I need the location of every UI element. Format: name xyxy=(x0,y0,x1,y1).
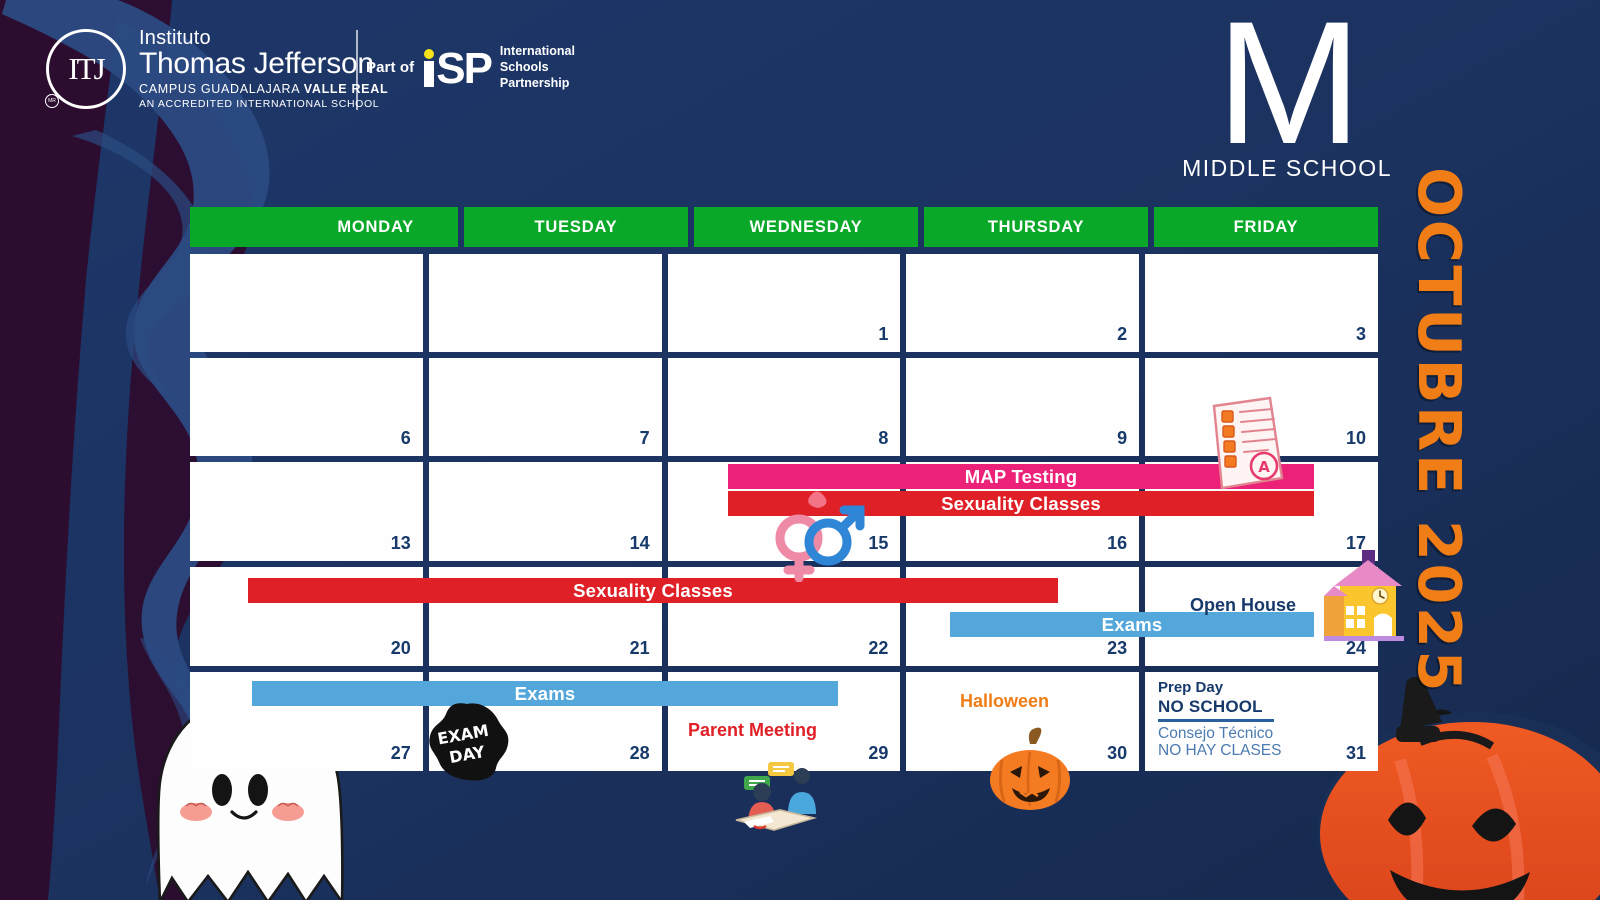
day-cell-9[interactable]: 9 xyxy=(906,358,1139,456)
day-cell-2[interactable]: 2 xyxy=(906,254,1139,352)
event-bar-exams[interactable]: Exams xyxy=(252,681,838,706)
event-bar-map-testing[interactable]: MAP Testing xyxy=(728,464,1314,489)
event-label-parent-meeting[interactable]: Parent Meeting xyxy=(688,720,817,741)
header-divider xyxy=(356,30,358,110)
isp-logo: Part of SP International Schools Partner… xyxy=(366,44,575,91)
isp-part-of-label: Part of xyxy=(366,59,414,76)
page-header: ITJ MR Instituto Thomas Jefferson CAMPUS… xyxy=(0,0,1600,200)
calendar-weeks: 1 2 3 6 7 8 9 10 xyxy=(190,254,1378,771)
isp-line-schools: Schools xyxy=(500,60,575,76)
day-number: 14 xyxy=(630,533,650,554)
weekday-header-wednesday: WEDNESDAY xyxy=(694,207,918,247)
calendar-week-3: 13 14 15 16 17 MAP Testing Sexuality Cla… xyxy=(190,462,1378,561)
isp-i-glyph xyxy=(424,49,434,87)
isp-i-stem xyxy=(424,61,434,87)
itj-line-instituto: Instituto xyxy=(139,28,388,48)
day-cell-13[interactable]: 13 xyxy=(190,462,423,561)
prep-day-rule xyxy=(1158,719,1274,722)
weekday-header-friday: FRIDAY xyxy=(1154,207,1378,247)
day-number: 17 xyxy=(1346,533,1366,554)
month-title-text: OCTUBRE 2025 xyxy=(1406,166,1475,693)
day-number: 9 xyxy=(1117,428,1127,449)
day-number: 22 xyxy=(868,638,888,659)
day-number: 23 xyxy=(1107,638,1127,659)
calendar-weekday-header-row: MONDAY TUESDAY WEDNESDAY THURSDAY FRIDAY xyxy=(190,207,1378,247)
day-cell-empty[interactable] xyxy=(429,254,662,352)
calendar-week-5: 27 28 29 30 31 Exams Parent Meeting Hall… xyxy=(190,672,1378,771)
event-label-halloween[interactable]: Halloween xyxy=(960,691,1049,712)
day-number: 10 xyxy=(1346,428,1366,449)
day-number: 7 xyxy=(640,428,650,449)
prep-day-line-1: Prep Day xyxy=(1158,680,1281,697)
itj-seal-initials: ITJ xyxy=(49,32,123,106)
day-number: 31 xyxy=(1346,743,1366,764)
itj-line-accreditation: AN ACCREDITED INTERNATIONAL SCHOOL xyxy=(139,99,388,110)
day-cell-6[interactable]: 6 xyxy=(190,358,423,456)
day-number: 6 xyxy=(401,428,411,449)
calendar-week-1: 1 2 3 xyxy=(190,254,1378,352)
day-number: 13 xyxy=(391,533,411,554)
middle-school-monogram: M xyxy=(1182,10,1392,159)
event-label-open-house[interactable]: Open House xyxy=(1190,595,1296,616)
itj-wordmark: Instituto Thomas Jefferson CAMPUS GUADAL… xyxy=(139,28,388,109)
itj-campus-prefix: CAMPUS GUADALAJARA xyxy=(139,82,304,96)
month-title: OCTUBRE 2025 xyxy=(1380,195,1500,665)
prep-day-line-2: NO SCHOOL xyxy=(1158,697,1281,716)
itj-seal-icon: ITJ MR xyxy=(46,29,126,109)
day-number: 2 xyxy=(1117,324,1127,345)
itj-line-campus: CAMPUS GUADALAJARA VALLE REAL xyxy=(139,83,388,96)
day-number: 3 xyxy=(1356,324,1366,345)
day-cell-3[interactable]: 3 xyxy=(1145,254,1378,352)
isp-yellow-dot-icon xyxy=(424,49,434,59)
day-cell-8[interactable]: 8 xyxy=(668,358,901,456)
day-number: 30 xyxy=(1107,743,1127,764)
day-number: 29 xyxy=(868,743,888,764)
day-cell-10[interactable]: 10 xyxy=(1145,358,1378,456)
day-number: 24 xyxy=(1346,638,1366,659)
weekday-header-tuesday: TUESDAY xyxy=(464,207,688,247)
itj-trademark-mark: MR xyxy=(45,94,59,108)
isp-sp-letters: SP xyxy=(436,52,491,86)
event-bar-sexuality-classes[interactable]: Sexuality Classes xyxy=(248,578,1058,603)
weekday-header-thursday: THURSDAY xyxy=(924,207,1148,247)
prep-day-line-4: NO HAY CLASES xyxy=(1158,742,1281,759)
day-number: 8 xyxy=(878,428,888,449)
day-number: 28 xyxy=(630,743,650,764)
day-cell-7[interactable]: 7 xyxy=(429,358,662,456)
calendar-week-4: 20 21 22 23 24 Sexuality Classes Exams O… xyxy=(190,567,1378,666)
day-cell-empty[interactable] xyxy=(190,254,423,352)
isp-line-international: International xyxy=(500,44,575,60)
day-cell-14[interactable]: 14 xyxy=(429,462,662,561)
isp-mark-icon: SP xyxy=(424,49,491,87)
itj-logo: ITJ MR Instituto Thomas Jefferson CAMPUS… xyxy=(46,28,388,109)
weekday-header-monday: MONDAY xyxy=(190,207,458,247)
calendar-week-2: 6 7 8 9 10 xyxy=(190,358,1378,456)
isp-wordmark: International Schools Partnership xyxy=(500,44,575,91)
day-number: 20 xyxy=(391,638,411,659)
day-number: 27 xyxy=(391,743,411,764)
calendar-grid: MONDAY TUESDAY WEDNESDAY THURSDAY FRIDAY… xyxy=(190,207,1378,771)
day-number: 21 xyxy=(630,638,650,659)
day-cell-1[interactable]: 1 xyxy=(668,254,901,352)
day-number: 16 xyxy=(1107,533,1127,554)
day-number: 15 xyxy=(868,533,888,554)
day-number: 1 xyxy=(878,324,888,345)
middle-school-label: MIDDLE SCHOOL xyxy=(1182,155,1392,182)
event-bar-sexuality-classes[interactable]: Sexuality Classes xyxy=(728,491,1314,516)
itj-line-thomas-jefferson: Thomas Jefferson xyxy=(139,49,388,79)
isp-line-partnership: Partnership xyxy=(500,76,575,92)
event-block-prep-day[interactable]: Prep Day NO SCHOOL Consejo Técnico NO HA… xyxy=(1158,680,1281,760)
prep-day-line-3: Consejo Técnico xyxy=(1158,725,1281,742)
middle-school-logo: M MIDDLE SCHOOL xyxy=(1182,10,1392,182)
day-cell-30[interactable]: 30 xyxy=(906,672,1139,771)
